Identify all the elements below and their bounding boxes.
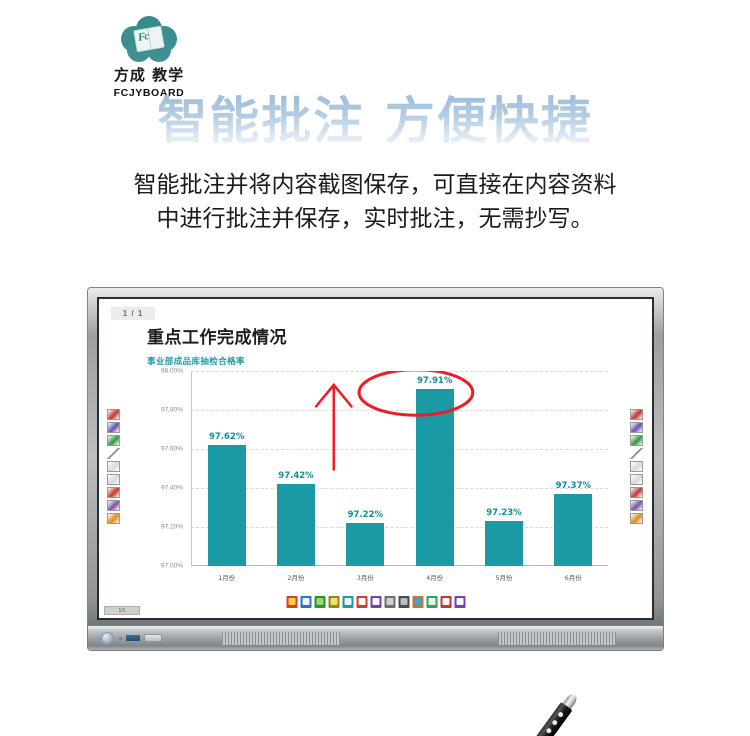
speaker-grille-left	[222, 632, 340, 645]
page-indicator: 1 / 1	[111, 307, 155, 320]
page-headline: 智能批注 方便快捷	[0, 93, 750, 151]
bar-slot: 97.42%	[261, 371, 330, 566]
x-axis-tick-label: 6月份	[539, 572, 608, 582]
help-icon[interactable]	[440, 596, 451, 608]
bar-slot: 97.22%	[331, 371, 400, 566]
y-axis-tick-label: 97.40%	[161, 485, 183, 492]
display-inner-frame: 1 / 1 重点工作完成情况 事业部成品库抽检合格率 98.00%97.80%9…	[97, 297, 654, 620]
right-toolbar[interactable]	[630, 409, 644, 524]
x-axis-tick-label: 3月份	[331, 572, 400, 582]
eraser-line-icon[interactable]	[107, 448, 120, 459]
display-bezel: 1 / 1 重点工作完成情况 事业部成品库抽检合格率 98.00%97.80%9…	[88, 288, 663, 626]
subtitle-line-1: 智能批注并将内容截图保存，可直接在内容资料	[50, 168, 700, 202]
icon-glyph	[400, 598, 407, 605]
chart-title: 重点工作完成情况	[147, 323, 612, 348]
bar	[208, 445, 246, 566]
icon-glyph	[442, 598, 449, 605]
icon-glyph	[288, 598, 295, 605]
bar-value-label: 97.23%	[486, 508, 521, 518]
x-axis-tick-label: 5月份	[469, 572, 538, 582]
icon-glyph	[372, 598, 379, 605]
stylus-body	[528, 702, 572, 736]
usb-port-icon	[126, 635, 140, 641]
left-toolbar[interactable]	[107, 409, 121, 524]
x-axis-tick-label: 1月份	[192, 572, 261, 582]
icon-glyph	[330, 598, 337, 605]
color-palette-icon[interactable]	[630, 435, 643, 446]
bar-slot: 97.23%	[469, 371, 538, 566]
subtitle-line-2: 中进行批注并保存，实时批注，无需抄写。	[50, 202, 700, 236]
x-axis-tick-label: 4月份	[400, 572, 469, 582]
align-lines-icon[interactable]	[398, 596, 409, 608]
save-image-icon[interactable]	[107, 500, 120, 511]
highlighter-tool-icon[interactable]	[630, 422, 643, 433]
bar-slot: 97.62%	[192, 371, 261, 566]
undo-icon[interactable]	[107, 461, 120, 472]
bar-value-label: 97.91%	[417, 376, 452, 386]
chart-container: 重点工作完成情况 事业部成品库抽检合格率 98.00%97.80%97.60%9…	[147, 323, 612, 586]
y-axis-tick-label: 97.20%	[161, 524, 183, 531]
chart-subtitle: 事业部成品库抽检合格率	[147, 355, 612, 367]
bar-value-label: 97.62%	[209, 432, 244, 442]
promo-page: Fc 方成 教学 FCJYBOARD 智能批注 方便快捷 智能批注并将内容截图保…	[0, 0, 750, 736]
save-image-icon[interactable]	[630, 500, 643, 511]
pen-settings-icon[interactable]	[370, 596, 381, 608]
x-axis-labels: 1月份2月份3月份4月份5月份6月份	[192, 572, 608, 582]
whiteboard-screen[interactable]: 1 / 1 重点工作完成情况 事业部成品库抽检合格率 98.00%97.80%9…	[99, 299, 652, 618]
undo-icon[interactable]	[630, 461, 643, 472]
bar	[346, 523, 384, 566]
highlighter-tool-icon[interactable]	[107, 422, 120, 433]
flower-book-logo-icon: Fc	[121, 16, 177, 62]
status-led-icon	[119, 637, 122, 640]
power-button[interactable]	[102, 633, 113, 644]
delete-page-icon[interactable]	[107, 487, 120, 498]
y-axis-tick-label: 97.00%	[161, 563, 183, 570]
icon-glyph	[344, 598, 351, 605]
bar	[416, 389, 454, 566]
toolbox-icon[interactable]	[630, 513, 643, 524]
y-axis: 98.00%97.80%97.60%97.40%97.20%97.00%	[147, 371, 187, 566]
bar-series: 97.62%97.42%97.22%97.91%97.23%97.37%	[192, 371, 608, 566]
page-tab[interactable]: 1/1	[104, 606, 140, 615]
add-icon[interactable]	[454, 596, 465, 608]
speaker-grille-right	[498, 632, 616, 645]
save-file-icon[interactable]	[328, 596, 339, 608]
bar	[277, 484, 315, 566]
bar-value-label: 97.42%	[278, 471, 313, 481]
redo-icon[interactable]	[107, 474, 120, 485]
sensor-window-icon	[145, 635, 161, 641]
y-axis-tick-label: 97.80%	[161, 407, 183, 414]
icon-glyph	[428, 598, 435, 605]
new-page-icon[interactable]	[286, 596, 297, 608]
y-axis-tick-label: 98.00%	[161, 368, 183, 375]
bar-slot: 97.91%	[400, 371, 469, 566]
eraser-line-icon[interactable]	[630, 448, 643, 459]
icon-glyph	[358, 598, 365, 605]
icon-glyph	[302, 598, 309, 605]
icon-glyph	[456, 598, 463, 605]
delete-page-icon[interactable]	[630, 487, 643, 498]
bookmark-icon[interactable]	[356, 596, 367, 608]
shapes-icon[interactable]	[412, 596, 423, 608]
bar-slot: 97.37%	[539, 371, 608, 566]
edit-note-icon[interactable]	[300, 596, 311, 608]
page-subtitle: 智能批注并将内容截图保存，可直接在内容资料 中进行批注并保存，实时批注，无需抄写…	[50, 168, 700, 236]
stylus-pen-icon	[514, 690, 581, 736]
pen-tool-icon[interactable]	[630, 409, 643, 420]
chart-columns-icon[interactable]	[426, 596, 437, 608]
device-base-bar	[88, 626, 663, 650]
insert-object-icon[interactable]	[314, 596, 325, 608]
bar-value-label: 97.22%	[348, 510, 383, 520]
bar-value-label: 97.37%	[556, 481, 591, 491]
pen-tool-icon[interactable]	[107, 409, 120, 420]
brand-logo: Fc 方成 教学 FCJYBOARD	[84, 16, 214, 90]
open-file-icon[interactable]	[342, 596, 353, 608]
interactive-whiteboard: 1 / 1 重点工作完成情况 事业部成品库抽检合格率 98.00%97.80%9…	[88, 288, 663, 650]
icon-glyph	[414, 598, 421, 605]
y-axis-tick-label: 97.60%	[161, 446, 183, 453]
redo-icon[interactable]	[630, 474, 643, 485]
icon-glyph	[386, 598, 393, 605]
list-lines-icon[interactable]	[384, 596, 395, 608]
logo-letters: Fc	[137, 30, 149, 44]
bar	[554, 494, 592, 566]
toolbox-icon[interactable]	[107, 513, 120, 524]
chart-plot-area: 98.00%97.80%97.60%97.40%97.20%97.00% 97.…	[191, 371, 608, 566]
bar	[485, 521, 523, 566]
color-palette-icon[interactable]	[107, 435, 120, 446]
brand-name-cn: 方成 教学	[84, 64, 214, 85]
icon-glyph	[316, 598, 323, 605]
bottom-toolbar[interactable]	[286, 596, 465, 608]
x-axis-tick-label: 2月份	[261, 572, 330, 582]
